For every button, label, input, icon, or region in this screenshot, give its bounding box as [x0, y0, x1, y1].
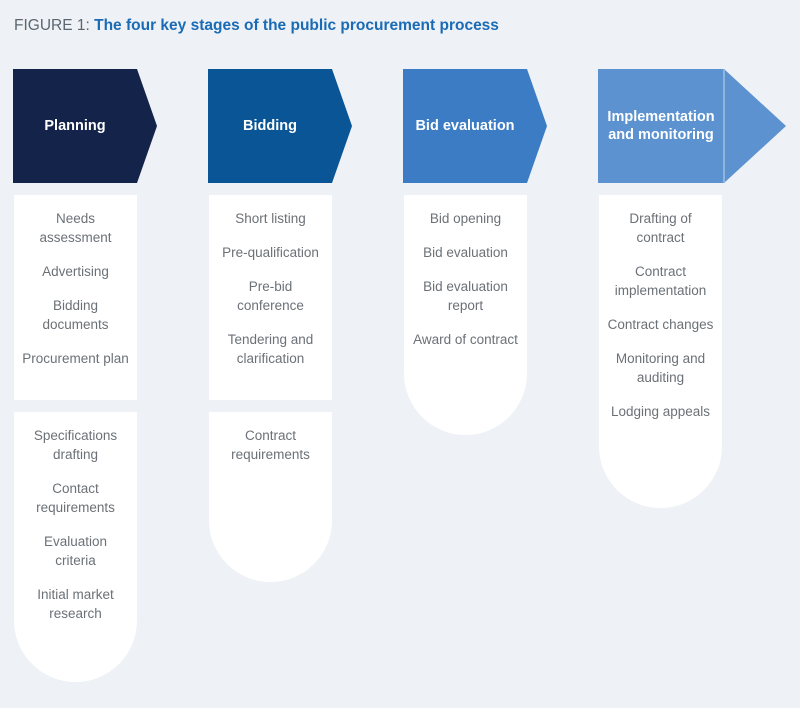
stage-item: Bid evaluation: [404, 243, 527, 262]
stage-item: Advertising: [14, 262, 137, 281]
stage-panel-bid-evaluation-panel-1: Bid openingBid evaluationBid evaluation …: [404, 195, 527, 435]
stage-item: Contract requirements: [209, 426, 332, 464]
stage-arrow-bid-evaluation[interactable]: Bid evaluation: [403, 69, 547, 183]
stage-item: Pre-qualification: [209, 243, 332, 262]
stage-item: Monitoring and auditing: [599, 349, 722, 387]
stage-item: Contract changes: [599, 315, 722, 334]
stage-panel-planning-panel-2: Specifications draftingContact requireme…: [14, 412, 137, 682]
stage-panel-planning-panel-1: Needs assessmentAdvertisingBidding docum…: [14, 195, 137, 400]
stage-panel-implementation-panel-1: Drafting of contractContract implementat…: [599, 195, 722, 508]
arrow-shape-icon: [13, 69, 157, 183]
stage-item: Procurement plan: [14, 349, 137, 368]
stage-arrow-bidding[interactable]: Bidding: [208, 69, 352, 183]
stage-item: Bid evaluation report: [404, 277, 527, 315]
stage-item: Specifications drafting: [14, 426, 137, 464]
figure-title: The four key stages of the public procur…: [94, 17, 499, 34]
stage-item: Bidding documents: [14, 296, 137, 334]
stage-item: Contact requirements: [14, 479, 137, 517]
stage-item: Evaluation criteria: [14, 532, 137, 570]
figure-label: FIGURE 1:: [14, 17, 90, 34]
stage-item: Needs assessment: [14, 209, 137, 247]
figure-caption: FIGURE 1: The four key stages of the pub…: [14, 16, 499, 36]
stage-arrow-implementation-and-monitoring[interactable]: Implementationand monitoring: [598, 69, 786, 183]
stage-item: Lodging appeals: [599, 402, 722, 421]
stage-panel-bidding-panel-2: Contract requirements: [209, 412, 332, 582]
stage-item: Tendering and clarification: [209, 330, 332, 368]
stage-item: Drafting of contract: [599, 209, 722, 247]
stage-arrow-planning[interactable]: Planning: [13, 69, 157, 183]
stage-item: Award of contract: [404, 330, 527, 349]
stage-panel-bidding-panel-1: Short listingPre-qualificationPre-bid co…: [209, 195, 332, 400]
arrow-shape-icon: [208, 69, 352, 183]
stage-item: Contract implementation: [599, 262, 722, 300]
arrow-shape-icon: [598, 69, 786, 183]
stage-item: Initial market research: [14, 585, 137, 623]
stage-item: Bid opening: [404, 209, 527, 228]
stage-item: Short listing: [209, 209, 332, 228]
stage-item: Pre-bid conference: [209, 277, 332, 315]
arrow-shape-icon: [403, 69, 547, 183]
